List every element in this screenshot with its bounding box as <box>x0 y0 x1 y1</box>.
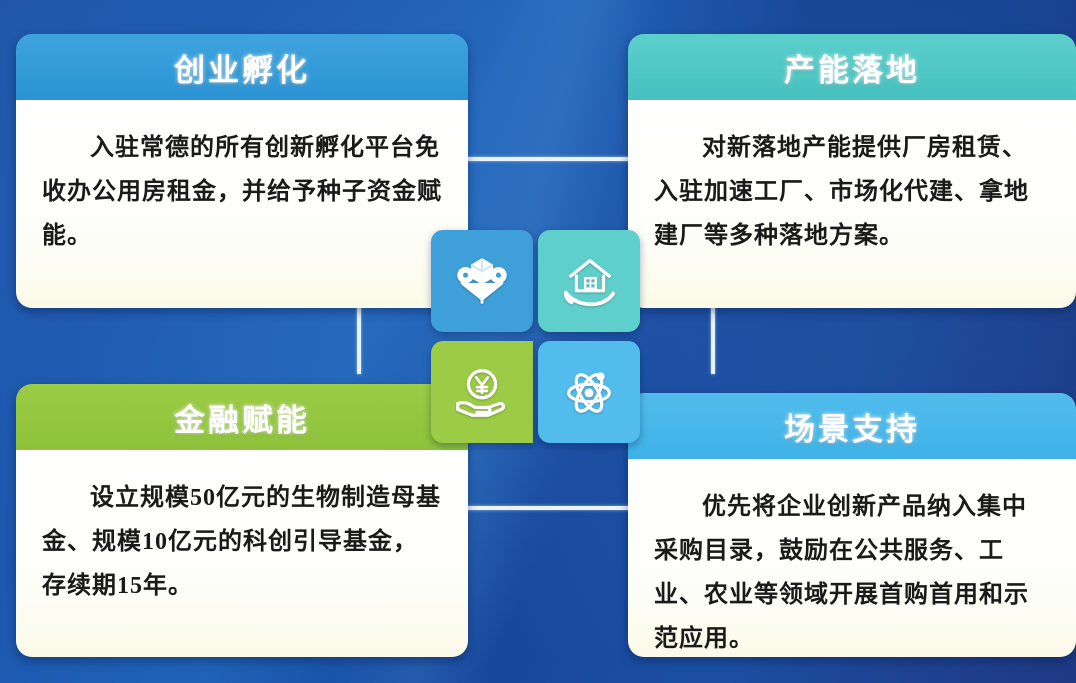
card-finance-title: 金融赋能 <box>174 395 310 440</box>
card-scenario-header: 场景支持 <box>628 393 1076 459</box>
card-finance-body: 设立规模50亿元的生物制造母基金、规模10亿元的科创引导基金，存续期15年。 <box>16 450 468 657</box>
card-scenario-body: 优先将企业创新产品纳入集中采购目录，鼓励在公共服务、工业、农业等领域开展首购首用… <box>628 459 1076 657</box>
cube-cluster-icon <box>451 250 513 312</box>
icon-tile-scenario[interactable] <box>538 341 640 443</box>
card-capacity[interactable]: 产能落地 对新落地产能提供厂房租赁、入驻加速工厂、市场化代建、拿地建厂等多种落地… <box>628 34 1076 308</box>
connector-line-right <box>711 300 715 374</box>
icon-tile-capacity[interactable] <box>538 230 640 332</box>
card-scenario-text: 优先将企业创新产品纳入集中采购目录，鼓励在公共服务、工业、农业等领域开展首购首用… <box>654 485 1050 657</box>
house-in-hand-icon <box>558 250 620 312</box>
card-capacity-header: 产能落地 <box>628 34 1076 100</box>
card-capacity-title: 产能落地 <box>784 45 920 90</box>
card-finance-header: 金融赋能 <box>16 384 468 450</box>
card-incubation[interactable]: 创业孵化 入驻常德的所有创新孵化平台免收办公用房租金，并给予种子资金赋能。 <box>16 34 468 308</box>
card-finance[interactable]: 金融赋能 设立规模50亿元的生物制造母基金、规模10亿元的科创引导基金，存续期1… <box>16 384 468 657</box>
money-in-hand-icon <box>451 361 513 423</box>
card-capacity-text: 对新落地产能提供厂房租赁、入驻加速工厂、市场化代建、拿地建厂等多种落地方案。 <box>654 126 1050 258</box>
connector-line-left <box>357 300 361 374</box>
card-incubation-title: 创业孵化 <box>174 45 310 90</box>
card-incubation-body: 入驻常德的所有创新孵化平台免收办公用房租金，并给予种子资金赋能。 <box>16 100 468 308</box>
icon-tile-incubation[interactable] <box>431 230 533 332</box>
card-incubation-text: 入驻常德的所有创新孵化平台免收办公用房租金，并给予种子资金赋能。 <box>42 126 442 258</box>
atom-icon <box>558 361 620 423</box>
card-scenario[interactable]: 场景支持 优先将企业创新产品纳入集中采购目录，鼓励在公共服务、工业、农业等领域开… <box>628 393 1076 657</box>
icon-tile-finance[interactable] <box>431 341 533 443</box>
card-capacity-body: 对新落地产能提供厂房租赁、入驻加速工厂、市场化代建、拿地建厂等多种落地方案。 <box>628 100 1076 308</box>
card-finance-text: 设立规模50亿元的生物制造母基金、规模10亿元的科创引导基金，存续期15年。 <box>42 476 442 608</box>
card-scenario-title: 场景支持 <box>784 404 920 449</box>
card-incubation-header: 创业孵化 <box>16 34 468 100</box>
